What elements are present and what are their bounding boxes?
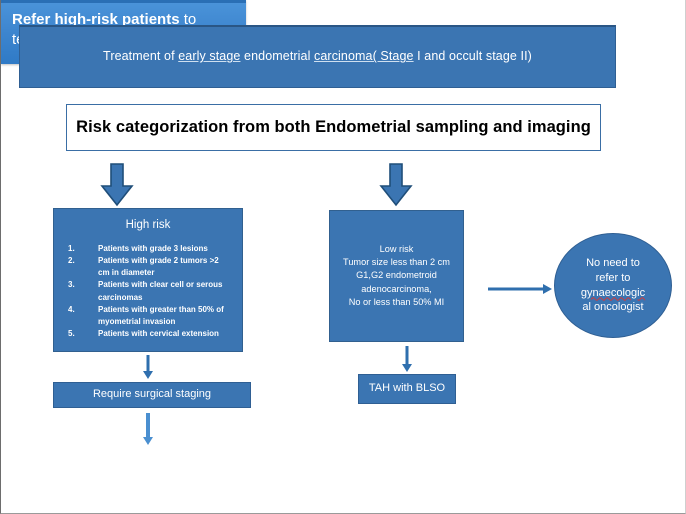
tah-with-blso-text: TAH with BLSO [369, 382, 445, 395]
high-risk-item: Patients with cervical extension [68, 328, 232, 340]
title-part-3-underlined: carcinoma( Stage [314, 49, 414, 63]
ellipse-text-block: No need to refer to gynaecologic al onco… [581, 256, 645, 314]
title-part-4: I and occult stage II) [414, 49, 532, 63]
title-banner-text: Treatment of early stage endometrial car… [103, 49, 532, 64]
title-part-0: Treatment of [103, 49, 178, 63]
low-risk-line: G1,G2 endometroid [343, 269, 450, 282]
high-risk-title: High risk [58, 218, 238, 232]
require-surgical-staging-text: Require surgical staging [93, 388, 211, 401]
low-risk-text-block: Low risk Tumor size less than 2 cm G1,G2… [343, 243, 450, 310]
down-thin-arrow-to-refer-tertiary [141, 412, 155, 446]
down-block-arrow-to-high-risk [100, 163, 134, 207]
flowchart-slide: Treatment of early stage endometrial car… [0, 0, 686, 514]
low-risk-line: No or less than 50% MI [343, 296, 450, 309]
high-risk-item: Patients with greater than 50% of myomet… [68, 304, 232, 328]
risk-categorization-heading-text: Risk categorization from both Endometria… [76, 117, 591, 137]
require-surgical-staging-box: Require surgical staging [53, 382, 251, 408]
high-risk-item: Patients with grade 2 tumors >2 cm in di… [68, 255, 232, 279]
tah-with-blso-box: TAH with BLSO [358, 374, 456, 404]
low-risk-line: Tumor size less than 2 cm [343, 256, 450, 269]
title-banner: Treatment of early stage endometrial car… [19, 25, 616, 88]
ellipse-line-4: al oncologist [581, 300, 645, 315]
low-risk-panel: Low risk Tumor size less than 2 cm G1,G2… [329, 210, 464, 342]
down-block-arrow-to-low-risk [379, 163, 413, 207]
ellipse-line-1: No need to [581, 256, 645, 271]
high-risk-item: Patients with clear cell or serous carci… [68, 279, 232, 303]
low-risk-line: adenocarcinoma, [343, 283, 450, 296]
ellipse-line-2: refer to [581, 271, 645, 286]
right-thin-arrow-to-ellipse [487, 282, 553, 296]
risk-categorization-heading: Risk categorization from both Endometria… [66, 104, 601, 151]
down-thin-arrow-to-tah [400, 345, 414, 373]
ellipse-line-3-misspelled: gynaecologic [581, 286, 645, 301]
high-risk-criteria-list: Patients with grade 3 lesions Patients w… [58, 243, 238, 340]
high-risk-panel: High risk Patients with grade 3 lesions … [53, 208, 243, 352]
title-part-2: endometrial [240, 49, 314, 63]
high-risk-item: Patients with grade 3 lesions [68, 243, 232, 255]
low-risk-line: Low risk [343, 243, 450, 256]
no-referral-needed-ellipse: No need to refer to gynaecologic al onco… [554, 233, 672, 338]
title-part-1-underlined: early stage [178, 49, 240, 63]
down-thin-arrow-to-surgical-staging [141, 354, 155, 380]
